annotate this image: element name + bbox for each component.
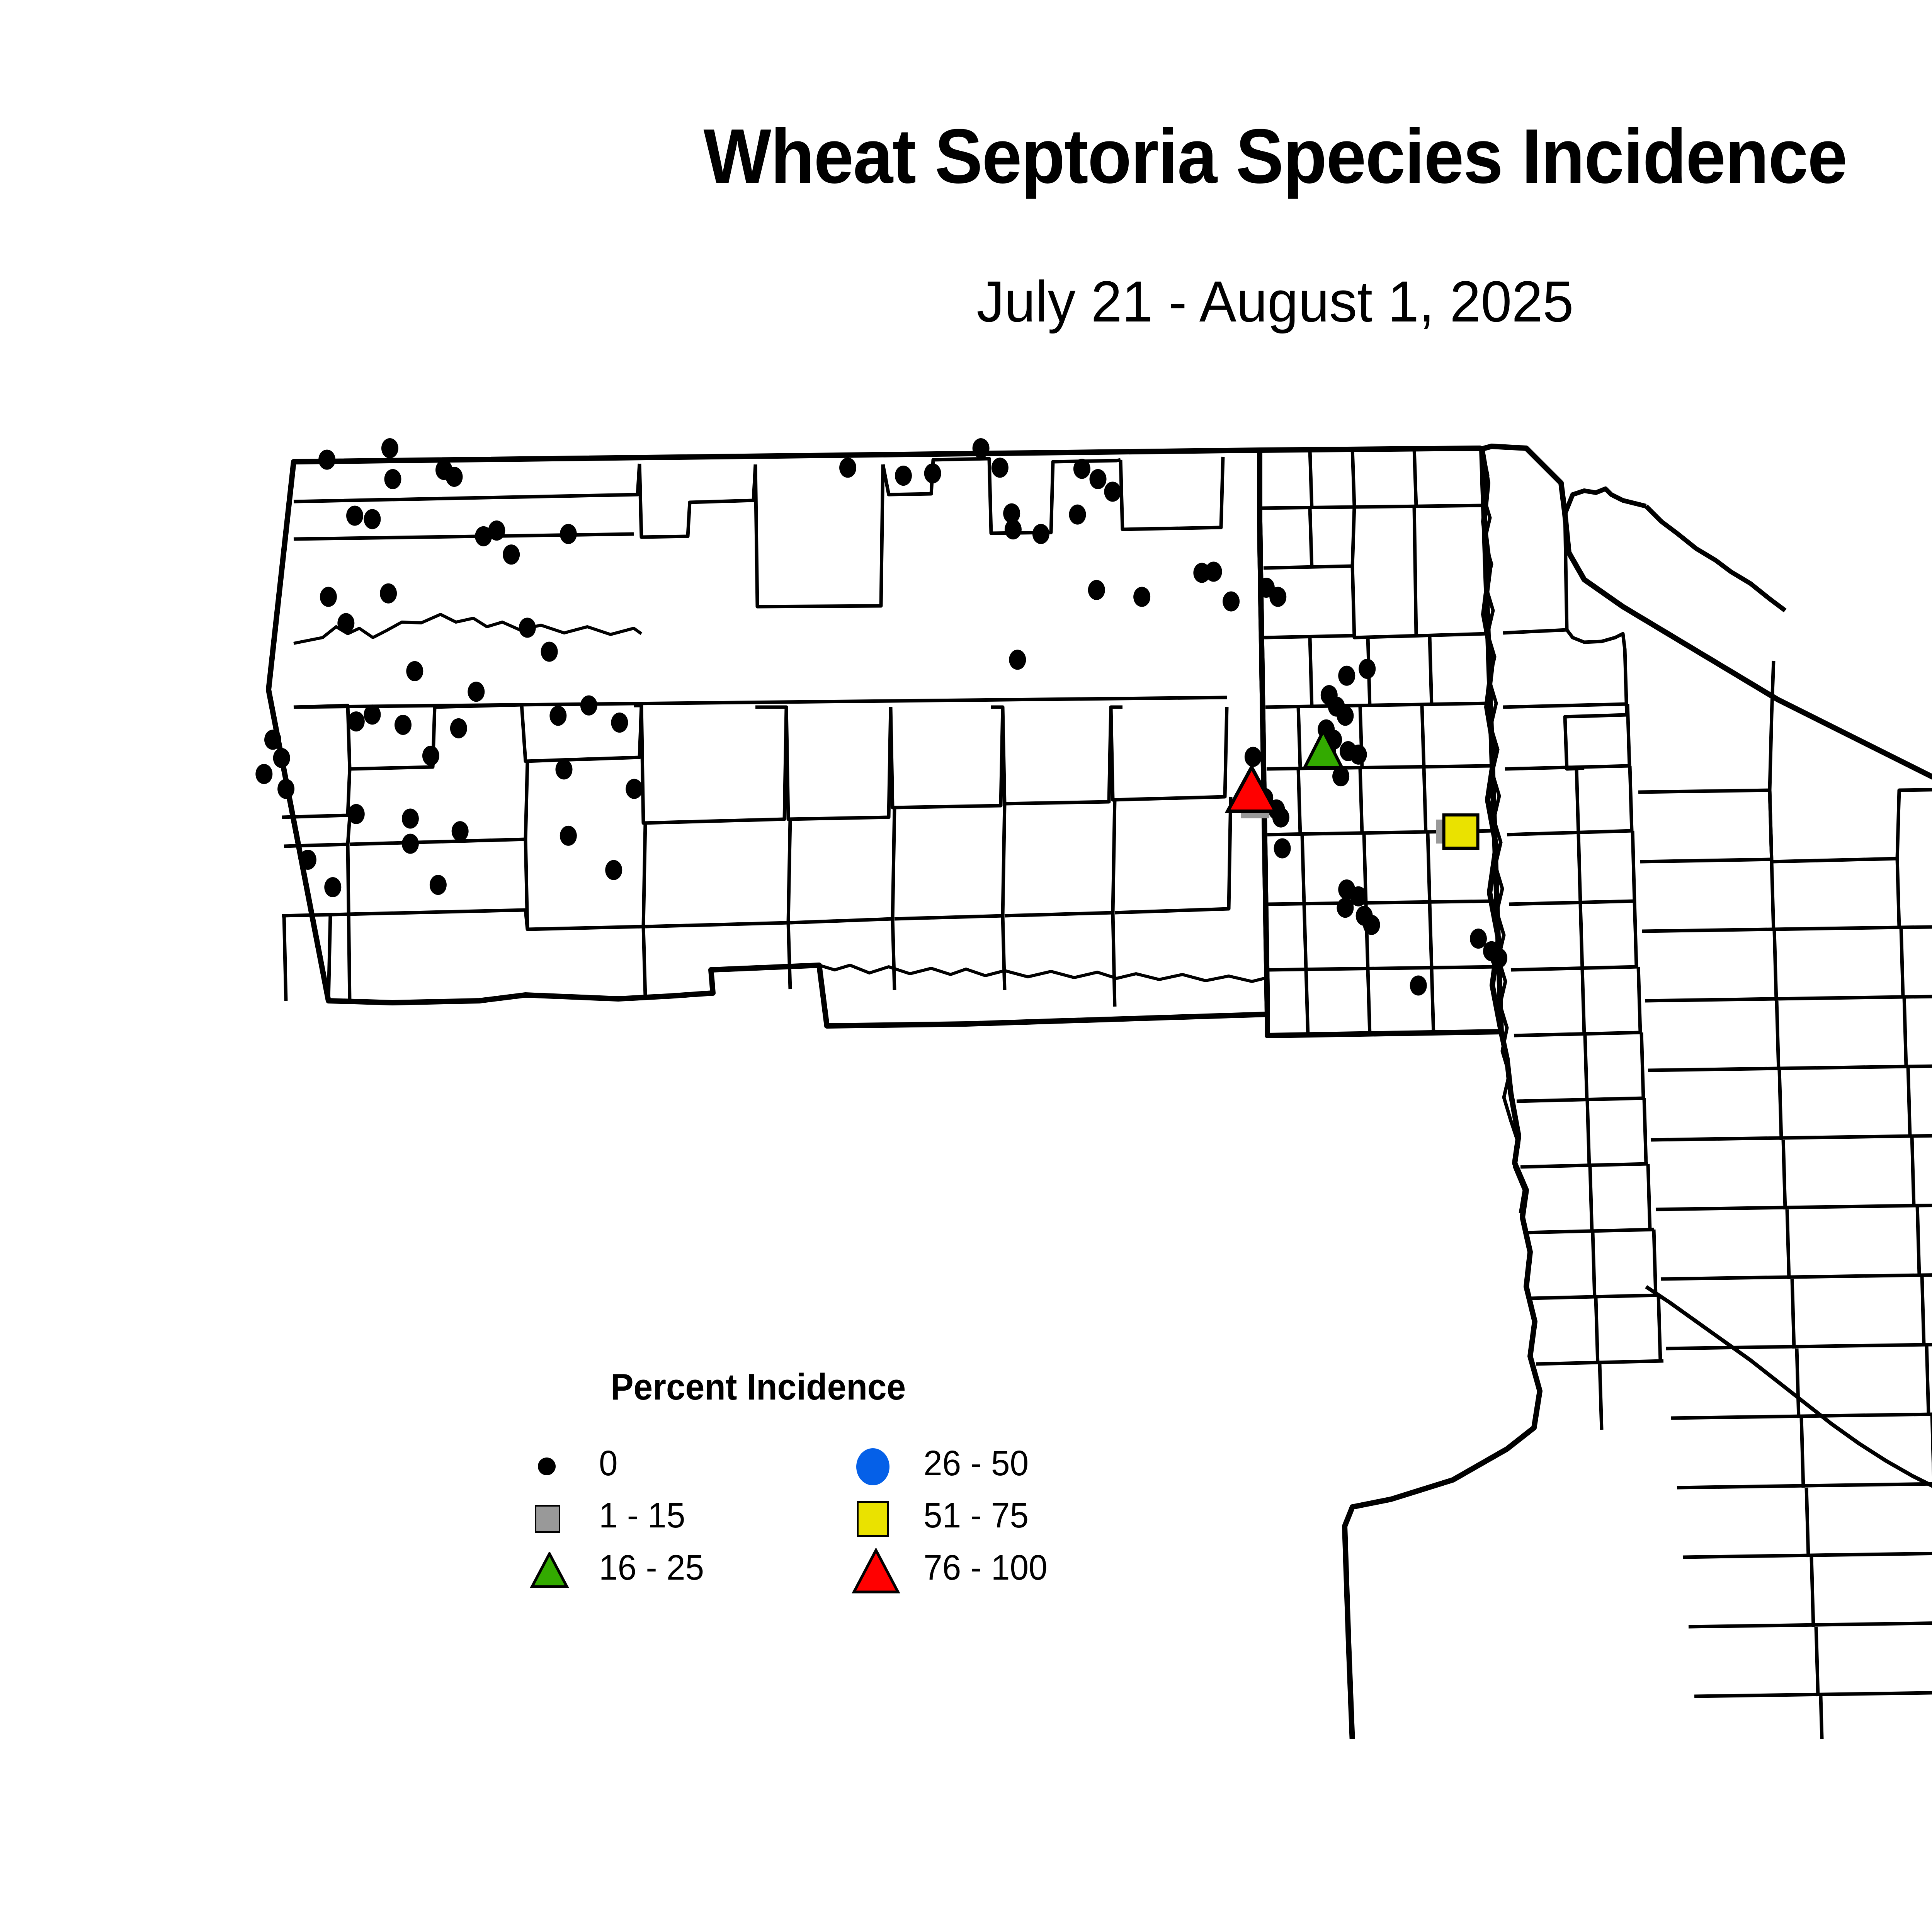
survey-point-zero[interactable]	[1223, 591, 1240, 611]
survey-point-zero[interactable]	[1133, 587, 1150, 607]
survey-point-zero[interactable]	[273, 748, 290, 768]
survey-point-zero[interactable]	[560, 524, 577, 544]
survey-point-zero[interactable]	[556, 759, 573, 779]
survey-point-zero[interactable]	[364, 704, 381, 724]
survey-point-zero[interactable]	[450, 718, 467, 738]
red-triangle-icon	[854, 1549, 896, 1592]
survey-point-zero[interactable]	[346, 506, 363, 526]
survey-point-zero[interactable]	[1359, 659, 1376, 679]
survey-point-zero[interactable]	[626, 779, 643, 799]
survey-point-zero[interactable]	[1363, 915, 1380, 935]
page-title: Wheat Septoria Species Incidence	[89, 116, 1932, 197]
survey-point-zero[interactable]	[364, 509, 381, 529]
yellow-square-icon	[854, 1497, 896, 1540]
legend: Percent Incidence 0 1 - 15	[529, 1368, 1109, 1584]
survey-point-zero[interactable]	[895, 466, 912, 486]
survey-point-zero[interactable]	[1088, 580, 1105, 600]
survey-point-zero[interactable]	[402, 834, 419, 854]
survey-point-zero[interactable]	[611, 713, 628, 733]
survey-point-zero[interactable]	[406, 661, 423, 681]
survey-point-zero[interactable]	[519, 618, 536, 638]
survey-point-zero[interactable]	[839, 457, 856, 478]
survey-point-zero[interactable]	[452, 821, 469, 841]
survey-point-zero[interactable]	[381, 438, 398, 458]
legend-item-label: 1 - 15	[599, 1494, 685, 1537]
survey-point-zero[interactable]	[1332, 766, 1349, 786]
survey-point-zero[interactable]	[973, 438, 990, 458]
survey-point-zero[interactable]	[549, 706, 566, 726]
legend-title: Percent Incidence	[611, 1368, 906, 1406]
survey-point-zero[interactable]	[605, 860, 622, 880]
survey-point-zero[interactable]	[402, 809, 419, 829]
survey-point-zero[interactable]	[324, 877, 341, 897]
survey-point-zero[interactable]	[468, 682, 485, 702]
survey-point-zero[interactable]	[380, 583, 397, 604]
survey-point-zero[interactable]	[1338, 666, 1355, 686]
survey-point-zero[interactable]	[1205, 562, 1222, 582]
survey-point-zero[interactable]	[1005, 519, 1022, 539]
survey-point-zero[interactable]	[1274, 838, 1291, 858]
page-subtitle: July 21 - August 1, 2025	[51, 270, 1932, 332]
survey-point-zero[interactable]	[348, 711, 365, 731]
survey-point-zero[interactable]	[1350, 745, 1367, 765]
survey-point-zero[interactable]	[422, 746, 439, 766]
survey-point-51-75	[1444, 815, 1478, 848]
survey-point-zero[interactable]	[384, 469, 401, 489]
survey-point-zero[interactable]	[430, 875, 447, 895]
survey-point-zero[interactable]	[446, 467, 463, 487]
legend-item-label: 76 - 100	[923, 1546, 1048, 1589]
survey-point-zero[interactable]	[1104, 481, 1121, 502]
survey-point-zero[interactable]	[541, 642, 558, 662]
gray-square-icon	[529, 1497, 572, 1540]
survey-point-zero[interactable]	[277, 779, 294, 799]
green-triangle-icon	[529, 1549, 572, 1592]
survey-point-zero[interactable]	[580, 696, 597, 716]
survey-point-zero[interactable]	[318, 450, 335, 470]
survey-point-zero[interactable]	[337, 613, 354, 633]
survey-point-zero[interactable]	[488, 520, 505, 541]
survey-point-zero[interactable]	[1410, 975, 1427, 995]
survey-point-group-51-75[interactable]	[1436, 815, 1478, 848]
survey-point-zero[interactable]	[1090, 469, 1107, 489]
survey-point-zero[interactable]	[1073, 459, 1090, 479]
survey-point-zero[interactable]	[1490, 948, 1507, 968]
survey-point-zero[interactable]	[1009, 650, 1026, 670]
legend-item-label: 0	[599, 1442, 618, 1485]
survey-point-zero[interactable]	[1337, 898, 1354, 918]
survey-point-zero[interactable]	[1470, 929, 1487, 949]
legend-item-label: 16 - 25	[599, 1546, 704, 1589]
survey-point-zero[interactable]	[299, 850, 316, 870]
legend-item-label: 26 - 50	[923, 1442, 1029, 1485]
map-page: Wheat Septoria Species Incidence July 21…	[0, 0, 1932, 1932]
survey-point-zero[interactable]	[320, 587, 337, 607]
survey-point-zero[interactable]	[255, 764, 272, 784]
survey-point-zero[interactable]	[1269, 587, 1286, 607]
survey-point-zero[interactable]	[395, 715, 412, 735]
survey-point-zero[interactable]	[264, 730, 281, 750]
survey-point-zero[interactable]	[1069, 505, 1086, 525]
small-black-dot-icon	[529, 1445, 572, 1488]
survey-point-zero[interactable]	[503, 544, 520, 565]
blue-circle-icon	[854, 1445, 896, 1488]
survey-point-zero[interactable]	[1032, 524, 1049, 544]
legend-item-label: 51 - 75	[923, 1494, 1029, 1537]
survey-point-zero[interactable]	[348, 804, 365, 824]
survey-point-zero[interactable]	[560, 826, 577, 846]
survey-point-zero[interactable]	[924, 463, 941, 483]
survey-point-zero[interactable]	[992, 457, 1009, 478]
survey-point-zero[interactable]	[1337, 706, 1354, 726]
survey-point-zero[interactable]	[1245, 747, 1262, 767]
